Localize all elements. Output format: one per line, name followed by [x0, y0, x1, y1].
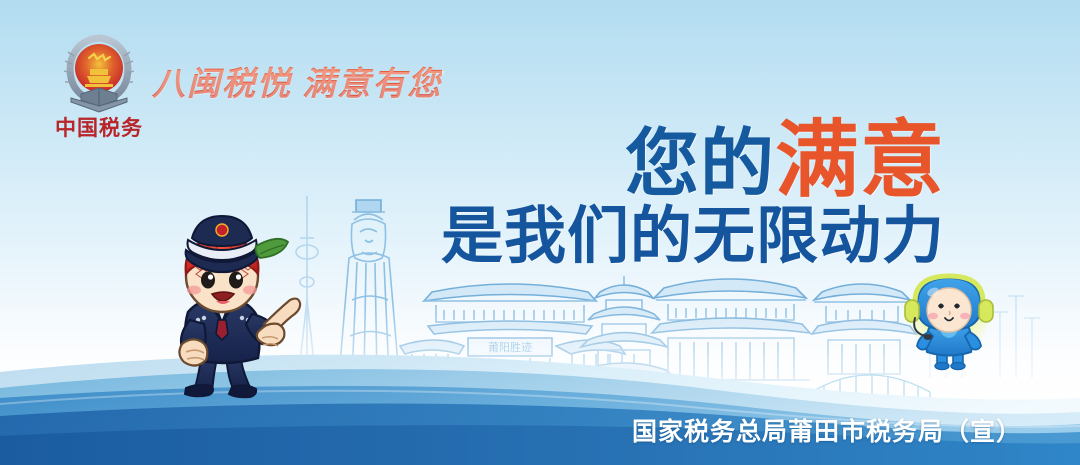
emblem-caption: 中国税务 — [45, 112, 153, 142]
china-taxation-logo: 中国税务 — [45, 28, 153, 150]
lychee-tax-officer-mascot — [142, 202, 324, 400]
mascot-head — [186, 216, 288, 312]
issuing-authority-label: 国家税务总局莆田市税务局（宣） — [0, 412, 1022, 448]
tax-service-promo-banner: 莆阳胜迹 — [0, 0, 1080, 465]
headset-service-mascot — [893, 268, 1005, 378]
mascot-left-arm — [179, 320, 207, 366]
mascot-cap — [186, 216, 259, 272]
cap-emblem-icon — [216, 224, 228, 236]
mascot-pointing-arm — [246, 299, 300, 346]
china-taxation-emblem-icon — [61, 28, 137, 116]
campaign-slogan: 八闽税悦 满意有您 — [152, 57, 442, 105]
